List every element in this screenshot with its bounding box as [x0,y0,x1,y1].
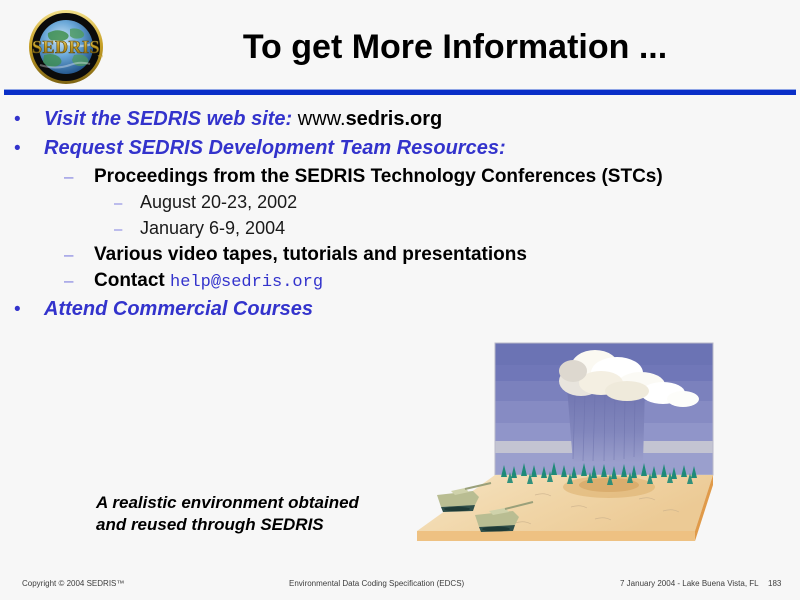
page-title: To get More Information ... [130,28,780,67]
bullet-marker: • [14,107,44,133]
scene-caption: A realistic environment obtained and reu… [96,492,359,536]
bullet-item-1: • Visit the SEDRIS web site: www.sedris.… [14,106,794,133]
bullet-list: • Visit the SEDRIS web site: www.sedris.… [14,106,794,325]
caption-line-2: and reused through SEDRIS [96,514,359,536]
bullet-marker: • [14,297,44,323]
bullet-item-5: – January 6-9, 2004 [14,216,794,242]
bullet-text: August 20-23, 2002 [140,190,297,214]
slide-footer: Copyright © 2004 SEDRIS™ Environmental D… [0,572,800,598]
bullet-text: Request SEDRIS Development Team Resource… [44,135,506,161]
title-divider [4,89,796,95]
bullet-marker: • [14,136,44,162]
terrain-scene-image [395,335,720,567]
bullet-item-2: • Request SEDRIS Development Team Resour… [14,135,794,162]
support-email[interactable]: help@sedris.org [170,273,323,292]
bullet-text: Proceedings from the SEDRIS Technology C… [94,164,663,189]
footer-event: 7 January 2004 - Lake Buena Vista, FL [620,579,759,588]
footer-subject: Environmental Data Coding Specification … [289,579,464,588]
slide: SEDRIS ™ To get More Information ... • V… [0,0,800,600]
bullet-item-4: – August 20-23, 2002 [14,190,794,216]
bullet-marker: – [114,192,140,216]
bullet-marker: – [64,242,94,267]
bullet-marker: – [64,164,94,189]
sedris-logo: SEDRIS ™ [18,9,114,85]
bullet-text: Attend Commercial Courses [44,296,313,322]
bullet-marker: – [114,218,140,242]
footer-page-number: 183 [768,579,781,588]
bullet-text: Contact help@sedris.org [94,268,323,295]
bullet-text: Visit the SEDRIS web site: www.sedris.or… [44,106,442,132]
footer-copyright: Copyright © 2004 SEDRIS™ [22,579,124,588]
bullet-text: Various video tapes, tutorials and prese… [94,242,527,267]
logo-wordmark: SEDRIS [32,37,100,57]
bullet-item-7: – Contact help@sedris.org [14,268,794,295]
bullet-item-6: – Various video tapes, tutorials and pre… [14,242,794,267]
bullet-text: January 6-9, 2004 [140,216,285,240]
bullet-marker: – [64,268,94,293]
logo-trademark: ™ [97,54,103,61]
caption-line-1: A realistic environment obtained [96,492,359,514]
bullet-item-3: – Proceedings from the SEDRIS Technology… [14,164,794,189]
bullet-item-8: • Attend Commercial Courses [14,296,794,323]
